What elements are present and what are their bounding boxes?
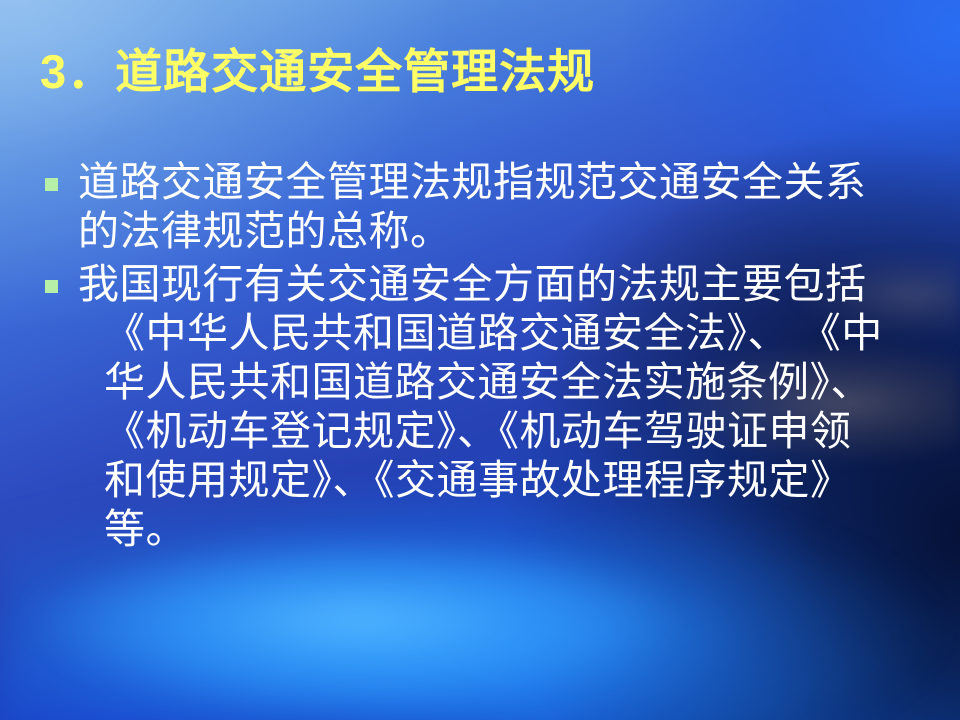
square-bullet-icon	[45, 178, 58, 191]
bullet-line: 和使用规定》、《交通事故处理程序规定》	[78, 456, 930, 505]
bullet-item: 我国现行有关交通安全方面的法规主要包括 《中华人民共和国道路交通安全法》、 《中…	[40, 260, 930, 554]
bullet-text: 我国现行有关交通安全方面的法规主要包括 《中华人民共和国道路交通安全法》、 《中…	[78, 260, 930, 554]
bullet-line: 我国现行有关交通安全方面的法规主要包括	[78, 260, 930, 309]
square-bullet-icon	[45, 280, 58, 293]
presentation-slide: 3．道路交通安全管理法规 道路交通安全管理法规指规范交通安全关系 的法律规范的总…	[0, 0, 960, 720]
bullet-line: 华人民共和国道路交通安全法实施条例》、	[78, 358, 930, 407]
bullet-line: 等。	[78, 505, 930, 554]
bullet-line: 《机动车登记规定》、《机动车驾驶证申领	[78, 407, 930, 456]
bullet-item: 道路交通安全管理法规指规范交通安全关系 的法律规范的总称。	[40, 158, 930, 256]
bullet-line: 道路交通安全管理法规指规范交通安全关系	[78, 158, 930, 207]
bullet-line: 《中华人民共和国道路交通安全法》、 《中	[78, 309, 930, 358]
slide-title: 3．道路交通安全管理法规	[40, 48, 920, 95]
slide-content: 3．道路交通安全管理法规 道路交通安全管理法规指规范交通安全关系 的法律规范的总…	[0, 0, 960, 720]
slide-body: 道路交通安全管理法规指规范交通安全关系 的法律规范的总称。 我国现行有关交通安全…	[40, 158, 930, 558]
bullet-line: 的法律规范的总称。	[78, 207, 930, 256]
bullet-text: 道路交通安全管理法规指规范交通安全关系 的法律规范的总称。	[78, 158, 930, 256]
